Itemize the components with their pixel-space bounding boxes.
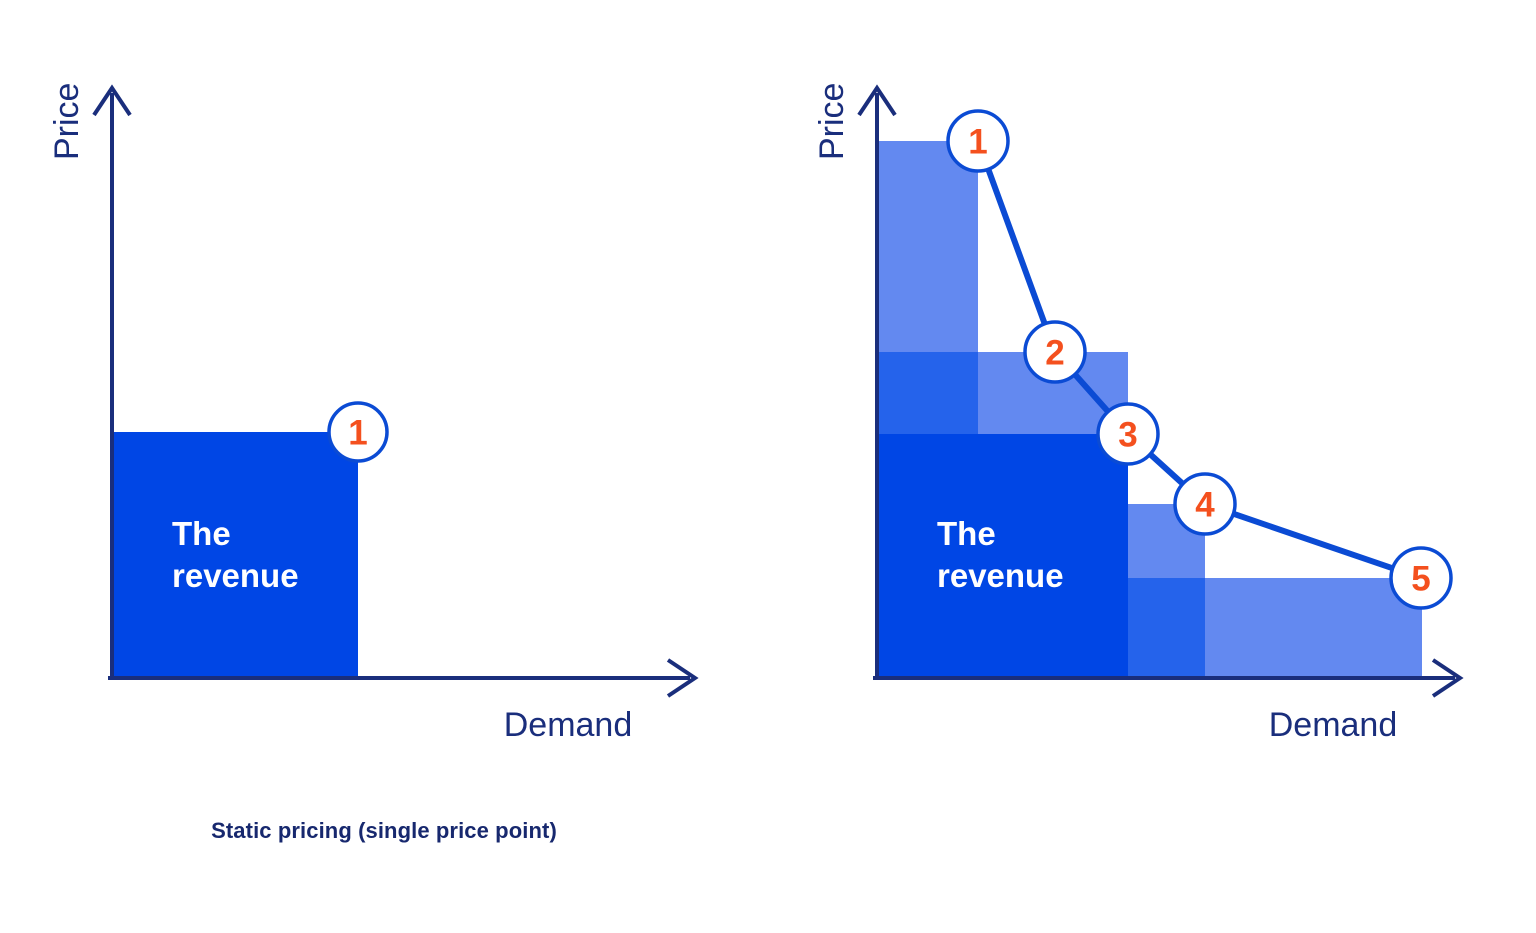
dynamic-pricing-chart: The revenue Price Demand 1 2 bbox=[768, 0, 1536, 800]
badge-number: 2 bbox=[1045, 334, 1064, 373]
static-x-axis-label: Demand bbox=[504, 706, 633, 744]
dynamic-price-point-badge-2[interactable]: 2 bbox=[1025, 322, 1085, 382]
dynamic-revenue-block bbox=[875, 434, 1128, 678]
dynamic-price-point-badge-1[interactable]: 1 bbox=[948, 111, 1008, 171]
badge-number: 3 bbox=[1118, 416, 1137, 455]
dynamic-y-axis-label: Price bbox=[813, 83, 851, 160]
static-pricing-caption: Static pricing (single price point) bbox=[0, 818, 768, 844]
static-revenue-block bbox=[110, 432, 358, 678]
dynamic-tier-5-light bbox=[1205, 578, 1422, 678]
badge-number: 4 bbox=[1195, 486, 1215, 525]
badge-number: 5 bbox=[1411, 560, 1430, 599]
dynamic-tier-4-mid bbox=[1128, 578, 1205, 678]
static-price-point-badge-1[interactable]: 1 bbox=[329, 403, 387, 461]
static-pricing-chart: 1 The revenue Price Demand 1 bbox=[0, 0, 768, 800]
dynamic-tier-1-light bbox=[875, 141, 978, 352]
dynamic-tier-1-mid bbox=[875, 352, 978, 434]
dynamic-price-point-badge-3[interactable]: 3 bbox=[1098, 404, 1158, 464]
badge-number: 1 bbox=[968, 123, 987, 162]
revenue-label-line-1: The bbox=[937, 515, 996, 552]
revenue-label-line-2: revenue bbox=[172, 557, 299, 594]
dynamic-pricing-panel: The revenue Price Demand 1 2 bbox=[768, 0, 1536, 933]
dynamic-price-point-badge-4[interactable]: 4 bbox=[1175, 474, 1235, 534]
revenue-label-line-2: revenue bbox=[937, 557, 1064, 594]
dynamic-price-point-badge-5[interactable]: 5 bbox=[1391, 548, 1451, 608]
revenue-label-line-1: The bbox=[172, 515, 231, 552]
figure-canvas: 1 The revenue Price Demand 1 Static pric… bbox=[0, 0, 1536, 933]
static-y-axis-label: Price bbox=[48, 83, 86, 160]
badge-number: 1 bbox=[348, 414, 367, 453]
dynamic-x-axis-label: Demand bbox=[1269, 706, 1398, 744]
static-pricing-panel: 1 The revenue Price Demand 1 Static pric… bbox=[0, 0, 768, 933]
